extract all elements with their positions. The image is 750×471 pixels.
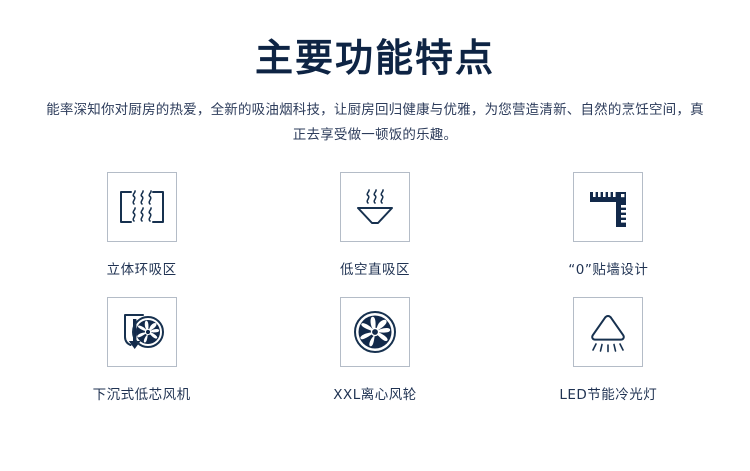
feature-label-1: 立体环吸区 (107, 258, 177, 278)
feature-icon-box-5 (340, 297, 410, 367)
page-title: 主要功能特点 (0, 0, 750, 82)
feature-icon-box-4 (107, 297, 177, 367)
blower-fan-down-arrow-icon (115, 307, 169, 357)
page-subtitle: 能率深知你对厨房的热爱，全新的吸油烟科技，让厨房回归健康与优雅，为您营造清新、自… (40, 98, 710, 148)
feature-item-1: 立体环吸区 (25, 172, 258, 297)
bracket-steam-icon (116, 183, 168, 231)
feature-label-4: 下沉式低芯风机 (93, 383, 191, 403)
steaming-bowl-icon (350, 184, 400, 230)
feature-label-5: XXL离心风轮 (333, 383, 417, 403)
l-ruler-icon (584, 183, 632, 231)
centrifugal-fan-wheel-icon (351, 308, 399, 356)
feature-item-6: LED节能冷光灯 (492, 297, 725, 422)
feature-icon-box-1 (107, 172, 177, 242)
feature-label-6: LED节能冷光灯 (559, 383, 657, 403)
feature-item-3: “0”贴墙设计 (492, 172, 725, 297)
feature-icon-box-3 (573, 172, 643, 242)
led-lamp-rays-icon (583, 308, 633, 356)
feature-grid: 立体环吸区 低空直吸区 (25, 172, 725, 422)
feature-icon-box-6 (573, 297, 643, 367)
feature-item-4: 下沉式低芯风机 (25, 297, 258, 422)
feature-label-2: 低空直吸区 (340, 258, 410, 278)
feature-item-5: XXL离心风轮 (258, 297, 491, 422)
feature-highlights-page: 主要功能特点 能率深知你对厨房的热爱，全新的吸油烟科技，让厨房回归健康与优雅，为… (0, 0, 750, 471)
feature-label-3: “0”贴墙设计 (568, 258, 648, 278)
feature-icon-box-2 (340, 172, 410, 242)
feature-item-2: 低空直吸区 (258, 172, 491, 297)
